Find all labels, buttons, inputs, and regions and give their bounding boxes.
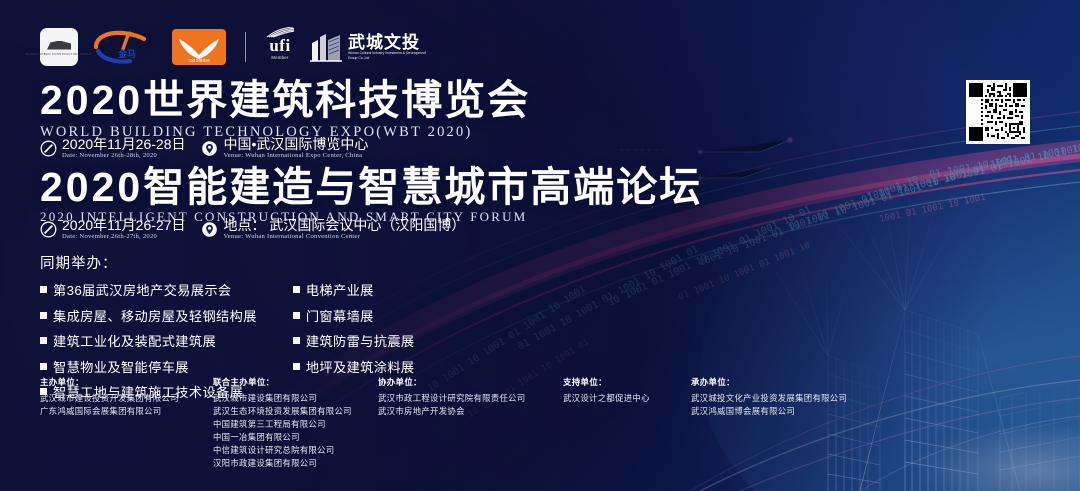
- list-item: 建筑防雷与抗震展: [293, 331, 415, 350]
- svg-text:鸿威会展集团: 鸿威会展集团: [188, 58, 210, 62]
- forum-venue-cn: 地点： 武汉国际会议中心（汉阳国博）: [223, 218, 465, 233]
- bullet-square-icon: [40, 337, 47, 344]
- expo-title-year: 2020: [40, 77, 143, 123]
- event-label: 建筑工业化及装配式建筑展: [53, 331, 216, 350]
- event-label: 地坪及建筑涂料展: [306, 357, 415, 376]
- svg-text:10 1001 01 1001 10 1001 01 100: 10 1001 01 1001 10 1001 01 1001 10 01: [607, 205, 814, 309]
- org-line: 中国建筑第三工程局有限公司: [213, 418, 378, 431]
- wuhan-construction-logo: WUHAN URBAN CONSTRUCTION GROUP: [40, 27, 78, 67]
- location-pin-icon: [201, 221, 218, 238]
- org-line: 中国一冶集团有限公司: [213, 431, 378, 444]
- list-item: 门窗幕墙展: [293, 306, 415, 325]
- org-line: 广东鸿威国际会展集团有限公司: [40, 405, 213, 418]
- svg-text:01 1001 10 1001 01 1001 10: 01 1001 10 1001 01 1001 10: [677, 241, 811, 303]
- event-label: 智慧物业及智能停车展: [53, 357, 189, 376]
- list-item: 智慧物业及智能停车展: [40, 357, 257, 376]
- org-block-co-sponsor: 协办单位： 武汉市政工程设计研究院有限责任公司 武汉市房地产开发协会: [378, 376, 563, 418]
- org-line: 武汉设计之都促进中心: [563, 392, 691, 405]
- qr-code-matrix: [969, 83, 1027, 141]
- svg-text:1001 01 1001 10 1001: 1001 01 1001 10 1001: [879, 193, 987, 225]
- event-label: 集成房屋、移动房屋及轻钢结构展: [53, 306, 257, 325]
- building-roof-icon: [47, 39, 71, 52]
- org-line: 武汉城市建设投资开发集团有限公司: [40, 392, 213, 405]
- bullet-square-icon: [40, 312, 47, 319]
- bullet-square-icon: [293, 363, 300, 370]
- svg-text:金马: 金马: [117, 48, 136, 59]
- wings-icon: 鸿威会展集团: [175, 32, 223, 62]
- org-title: 承办单位：: [691, 376, 847, 388]
- organizer-footer: 主办单位： 武汉城市建设投资开发集团有限公司 广东鸿威国际会展集团有限公司 联合…: [40, 376, 847, 470]
- event-label: 建筑防雷与抗震展: [306, 331, 415, 350]
- bullet-square-icon: [40, 363, 47, 370]
- svg-text:01 1001 10 1001 01 1001 10 100: 01 1001 10 1001 01 1001 10 1001 01 1001: [788, 154, 1016, 233]
- org-block-co-organizer: 联合主办单位： 武汉城市建设集团有限公司 武汉生态环境投资发展集团有限公司 中国…: [213, 376, 378, 470]
- svg-text:1001 10 1001 01 1001 10 1001 0: 1001 10 1001 01 1001 10 1001 01 1001 10: [697, 174, 920, 268]
- expo-title-name: 世界建筑科技博览会: [143, 77, 530, 123]
- expo-date-en: Date: November 26th-28th, 2020: [62, 153, 185, 160]
- forum-info-line: 2020年11月26-27日 Date: November 26th-27th,…: [40, 218, 465, 241]
- ufi-logo: ufi Member: [265, 27, 295, 67]
- org-title: 联合主办单位：: [213, 376, 378, 388]
- org-title: 支持单位：: [563, 376, 691, 388]
- svg-text:01 1001 10 1001 01 1001 10 01: 01 1001 10 1001 01 1001 10 01: [929, 140, 1080, 181]
- no-entry-icon: [40, 140, 57, 157]
- wucheng-building-icon: [309, 30, 343, 64]
- org-line: 武汉生态环境投资发展集团有限公司: [213, 405, 378, 418]
- concurrent-events-heading: 同期举办：: [40, 252, 415, 273]
- org-block-host: 承办单位： 武汉城投文化产业投资发展集团有限公司 武汉鸿威国博会展有限公司: [691, 376, 847, 418]
- list-item: 建筑工业化及装配式建筑展: [40, 331, 257, 350]
- svg-text:01 1001 10 1001 01 1001 10 100: 01 1001 10 1001 01 1001 10 1001 01: [516, 244, 700, 353]
- bullet-square-icon: [40, 286, 47, 293]
- wucheng-wordmark: 武城文投: [348, 34, 426, 51]
- ufi-member-label: Member: [271, 55, 288, 60]
- qr-code-icon[interactable]: [966, 80, 1030, 144]
- org-line: 武汉城市建设集团有限公司: [213, 392, 378, 405]
- expo-venue-cn: 中国•武汉国际博览中心: [223, 137, 368, 152]
- expo-venue-en: Venue: Wuhan International Expo Center, …: [223, 153, 368, 160]
- svg-text:1001 01 1001 10 1001 01 1001 1: 1001 01 1001 10 1001 01 1001 10 1001: [866, 143, 1080, 202]
- org-line: 武汉市房地产开发协会: [378, 405, 563, 418]
- forum-title-cn: 2020智能建造与智慧城市高端论坛: [40, 167, 702, 208]
- wucheng-english-name: Wuhan Cultural Industry Investment & Dev…: [348, 51, 426, 60]
- bullet-square-icon: [293, 312, 300, 319]
- forum-title-year: 2020: [40, 164, 143, 210]
- forum-venue-block: 地点： 武汉国际会议中心（汉阳国博） Venue: Wuhan Internat…: [201, 218, 465, 241]
- jinyu-logo: 金马: [92, 27, 158, 67]
- location-pin-icon: [201, 140, 218, 157]
- list-item: 第36届武汉房地产交易展示会: [40, 280, 257, 299]
- expo-info-line: 2020年11月26-28日 Date: November 26th-28th,…: [40, 137, 368, 160]
- list-item: 电梯产业展: [293, 280, 415, 299]
- forum-date-cn: 2020年11月26-27日: [62, 218, 185, 233]
- forum-venue-en: Venue: Wuhan International Convention Ce…: [223, 234, 465, 241]
- hongwei-expo-group-logo: 鸿威会展集团: [172, 27, 226, 67]
- list-item: 地坪及建筑涂料展: [293, 357, 415, 376]
- logo-divider: [245, 32, 246, 62]
- bullet-square-icon: [293, 337, 300, 344]
- org-block-supporter: 支持单位： 武汉设计之都促进中心: [563, 376, 691, 405]
- expo-banner: 10 1001 10 1001 01 1001 10 1001 01 1001 …: [0, 0, 1080, 491]
- event-label: 门窗幕墙展: [306, 306, 374, 325]
- forum-title-name: 智能建造与智慧城市高端论坛: [143, 164, 702, 210]
- sponsor-logo-row: WUHAN URBAN CONSTRUCTION GROUP 金马 鸿威会展集团: [40, 26, 426, 68]
- expo-venue-block: 中国•武汉国际博览中心 Venue: Wuhan International E…: [201, 137, 368, 160]
- forum-date-en: Date: November 26th-27th, 2020: [62, 234, 185, 241]
- event-label: 电梯产业展: [306, 280, 374, 299]
- bullet-square-icon: [293, 286, 300, 293]
- jinyu-logo-mark: 金马: [92, 30, 158, 64]
- org-title: 主办单位：: [40, 376, 213, 388]
- event-label: 第36届武汉房地产交易展示会: [53, 280, 232, 299]
- forum-date-block: 2020年11月26-27日 Date: November 26th-27th,…: [40, 218, 185, 241]
- org-line: 中信建筑设计研究总院有限公司: [213, 444, 378, 457]
- no-entry-icon: [40, 221, 57, 238]
- wucheng-wentou-logo: 武城文投 Wuhan Cultural Industry Investment …: [309, 27, 426, 67]
- org-line: 武汉鸿威国博会展有限公司: [691, 405, 847, 418]
- org-title: 协办单位：: [378, 376, 563, 388]
- expo-date-block: 2020年11月26-28日 Date: November 26th-28th,…: [40, 137, 185, 160]
- list-item: 集成房屋、移动房屋及轻钢结构展: [40, 306, 257, 325]
- wuhan-construction-logo-text: WUHAN URBAN CONSTRUCTION GROUP: [26, 52, 93, 56]
- org-block-organizer: 主办单位： 武汉城市建设投资开发集团有限公司 广东鸿威国际会展集团有限公司: [40, 376, 213, 418]
- org-line: 武汉市政工程设计研究院有限责任公司: [378, 392, 563, 405]
- ufi-wordmark: ufi: [269, 38, 290, 54]
- expo-date-cn: 2020年11月26-28日: [62, 137, 185, 152]
- expo-title-cn: 2020世界建筑科技博览会: [40, 80, 530, 121]
- org-line: 武汉城投文化产业投资发展集团有限公司: [691, 392, 847, 405]
- org-line: 汉阳市政建设集团有限公司: [213, 457, 378, 470]
